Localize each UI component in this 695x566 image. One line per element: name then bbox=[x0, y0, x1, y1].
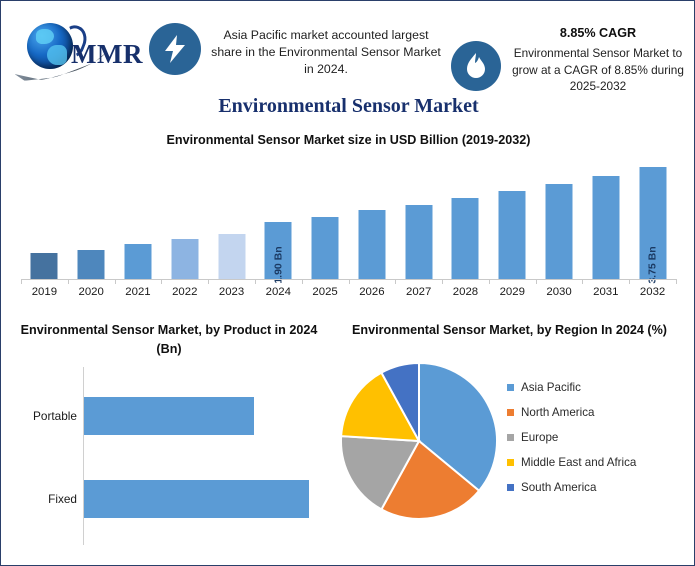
legend-item: Asia Pacific bbox=[507, 375, 685, 400]
axis-tick bbox=[629, 279, 630, 284]
by-product-chart: Environmental Sensor Market, by Product … bbox=[9, 313, 329, 561]
bar-column bbox=[161, 157, 208, 279]
bar-column bbox=[489, 157, 536, 279]
x-axis-label-2022: 2022 bbox=[161, 286, 208, 298]
legend-label: Asia Pacific bbox=[521, 381, 581, 394]
legend-label: Middle East and Africa bbox=[521, 456, 636, 469]
x-axis-label-2021: 2021 bbox=[115, 286, 162, 298]
flame-icon bbox=[451, 41, 501, 91]
hbar-row: Portable bbox=[9, 397, 329, 435]
bar-2020 bbox=[78, 250, 105, 279]
x-axis-label-2025: 2025 bbox=[302, 286, 349, 298]
x-axis-label-2029: 2029 bbox=[489, 286, 536, 298]
x-axis-label-2032: 2032 bbox=[629, 286, 676, 298]
bottom-charts-row: Environmental Sensor Market, by Product … bbox=[1, 313, 695, 565]
hbar-category-fixed: Fixed bbox=[7, 480, 77, 518]
legend-swatch-icon bbox=[507, 409, 514, 416]
legend-item: South America bbox=[507, 475, 685, 500]
bar-2023 bbox=[218, 234, 245, 279]
bar-2031 bbox=[592, 176, 619, 279]
legend-swatch-icon bbox=[507, 484, 514, 491]
bar-2019 bbox=[31, 253, 58, 279]
axis-tick bbox=[255, 279, 256, 284]
x-axis-label-2026: 2026 bbox=[349, 286, 396, 298]
legend-swatch-icon bbox=[507, 434, 514, 441]
bar-column bbox=[442, 157, 489, 279]
hbar-fixed bbox=[84, 480, 309, 518]
bar-2026 bbox=[358, 210, 385, 279]
x-axis-label-2024: 2024 bbox=[255, 286, 302, 298]
x-axis-label-2031: 2031 bbox=[582, 286, 629, 298]
hbar-row: Fixed bbox=[9, 480, 329, 518]
x-axis-label-2030: 2030 bbox=[536, 286, 583, 298]
by-product-plot: PortableFixed bbox=[9, 367, 329, 557]
axis-tick bbox=[21, 279, 22, 284]
bar-column bbox=[208, 157, 255, 279]
asia-pacific-note: Asia Pacific market accounted largest sh… bbox=[207, 27, 445, 78]
bar-2030 bbox=[546, 184, 573, 279]
x-axis-label-2020: 2020 bbox=[68, 286, 115, 298]
x-axis-label-2027: 2027 bbox=[395, 286, 442, 298]
cagr-note: Environmental Sensor Market to grow at a… bbox=[503, 45, 693, 95]
by-product-axis bbox=[83, 367, 84, 545]
hbar-category-portable: Portable bbox=[7, 397, 77, 435]
bar-2022 bbox=[171, 239, 198, 279]
axis-tick bbox=[161, 279, 162, 284]
axis-tick bbox=[349, 279, 350, 284]
market-size-chart: Environmental Sensor Market size in USD … bbox=[9, 129, 688, 307]
by-region-chart-title: Environmental Sensor Market, by Region I… bbox=[331, 321, 688, 340]
legend-item: North America bbox=[507, 400, 685, 425]
bar-2027 bbox=[405, 205, 432, 279]
bar-column: 1.90 Bn bbox=[255, 157, 302, 279]
bar-2021 bbox=[124, 244, 151, 279]
bar-column bbox=[395, 157, 442, 279]
market-size-plot: 1.90 Bn3.75 Bn bbox=[21, 157, 676, 279]
bar-column bbox=[21, 157, 68, 279]
legend-item: Europe bbox=[507, 425, 685, 450]
axis-tick bbox=[489, 279, 490, 284]
x-axis-label-2028: 2028 bbox=[442, 286, 489, 298]
hbar-portable bbox=[84, 397, 254, 435]
bar-2024: 1.90 Bn bbox=[265, 222, 292, 279]
axis-tick bbox=[68, 279, 69, 284]
axis-tick bbox=[536, 279, 537, 284]
bar-2032: 3.75 Bn bbox=[639, 167, 666, 279]
bar-column: 3.75 Bn bbox=[629, 157, 676, 279]
legend-swatch-icon bbox=[507, 384, 514, 391]
bar-column bbox=[115, 157, 162, 279]
header: MMR Asia Pacific market accounted larges… bbox=[1, 1, 694, 129]
bar-2028 bbox=[452, 198, 479, 279]
axis-tick bbox=[442, 279, 443, 284]
bar-2025 bbox=[312, 217, 339, 279]
axis-tick bbox=[395, 279, 396, 284]
bar-column bbox=[349, 157, 396, 279]
x-axis-label-2023: 2023 bbox=[208, 286, 255, 298]
logo-text: MMR bbox=[71, 39, 143, 70]
legend-label: South America bbox=[521, 481, 596, 494]
legend-swatch-icon bbox=[507, 459, 514, 466]
mmr-logo: MMR bbox=[11, 19, 143, 77]
cagr-value: 8.85% CAGR bbox=[503, 26, 693, 40]
infographic-root: MMR Asia Pacific market accounted larges… bbox=[0, 0, 695, 566]
legend-item: Middle East and Africa bbox=[507, 450, 685, 475]
axis-tick bbox=[115, 279, 116, 284]
by-region-pie-graphic bbox=[339, 361, 499, 521]
x-axis-label-2019: 2019 bbox=[21, 286, 68, 298]
bar-column bbox=[68, 157, 115, 279]
axis-tick bbox=[208, 279, 209, 284]
market-size-chart-title: Environmental Sensor Market size in USD … bbox=[9, 133, 688, 147]
by-region-chart: Environmental Sensor Market, by Region I… bbox=[331, 313, 688, 561]
legend-label: Europe bbox=[521, 431, 558, 444]
by-product-chart-title: Environmental Sensor Market, by Product … bbox=[9, 321, 329, 359]
bar-column bbox=[302, 157, 349, 279]
bar-column bbox=[536, 157, 583, 279]
axis-tick bbox=[676, 279, 677, 284]
bar-2029 bbox=[499, 191, 526, 279]
axis-tick bbox=[302, 279, 303, 284]
by-region-legend: Asia PacificNorth AmericaEuropeMiddle Ea… bbox=[507, 375, 685, 500]
lightning-bolt-icon bbox=[149, 23, 201, 75]
page-title: Environmental Sensor Market bbox=[1, 95, 695, 118]
legend-label: North America bbox=[521, 406, 594, 419]
axis-tick bbox=[582, 279, 583, 284]
bar-column bbox=[582, 157, 629, 279]
